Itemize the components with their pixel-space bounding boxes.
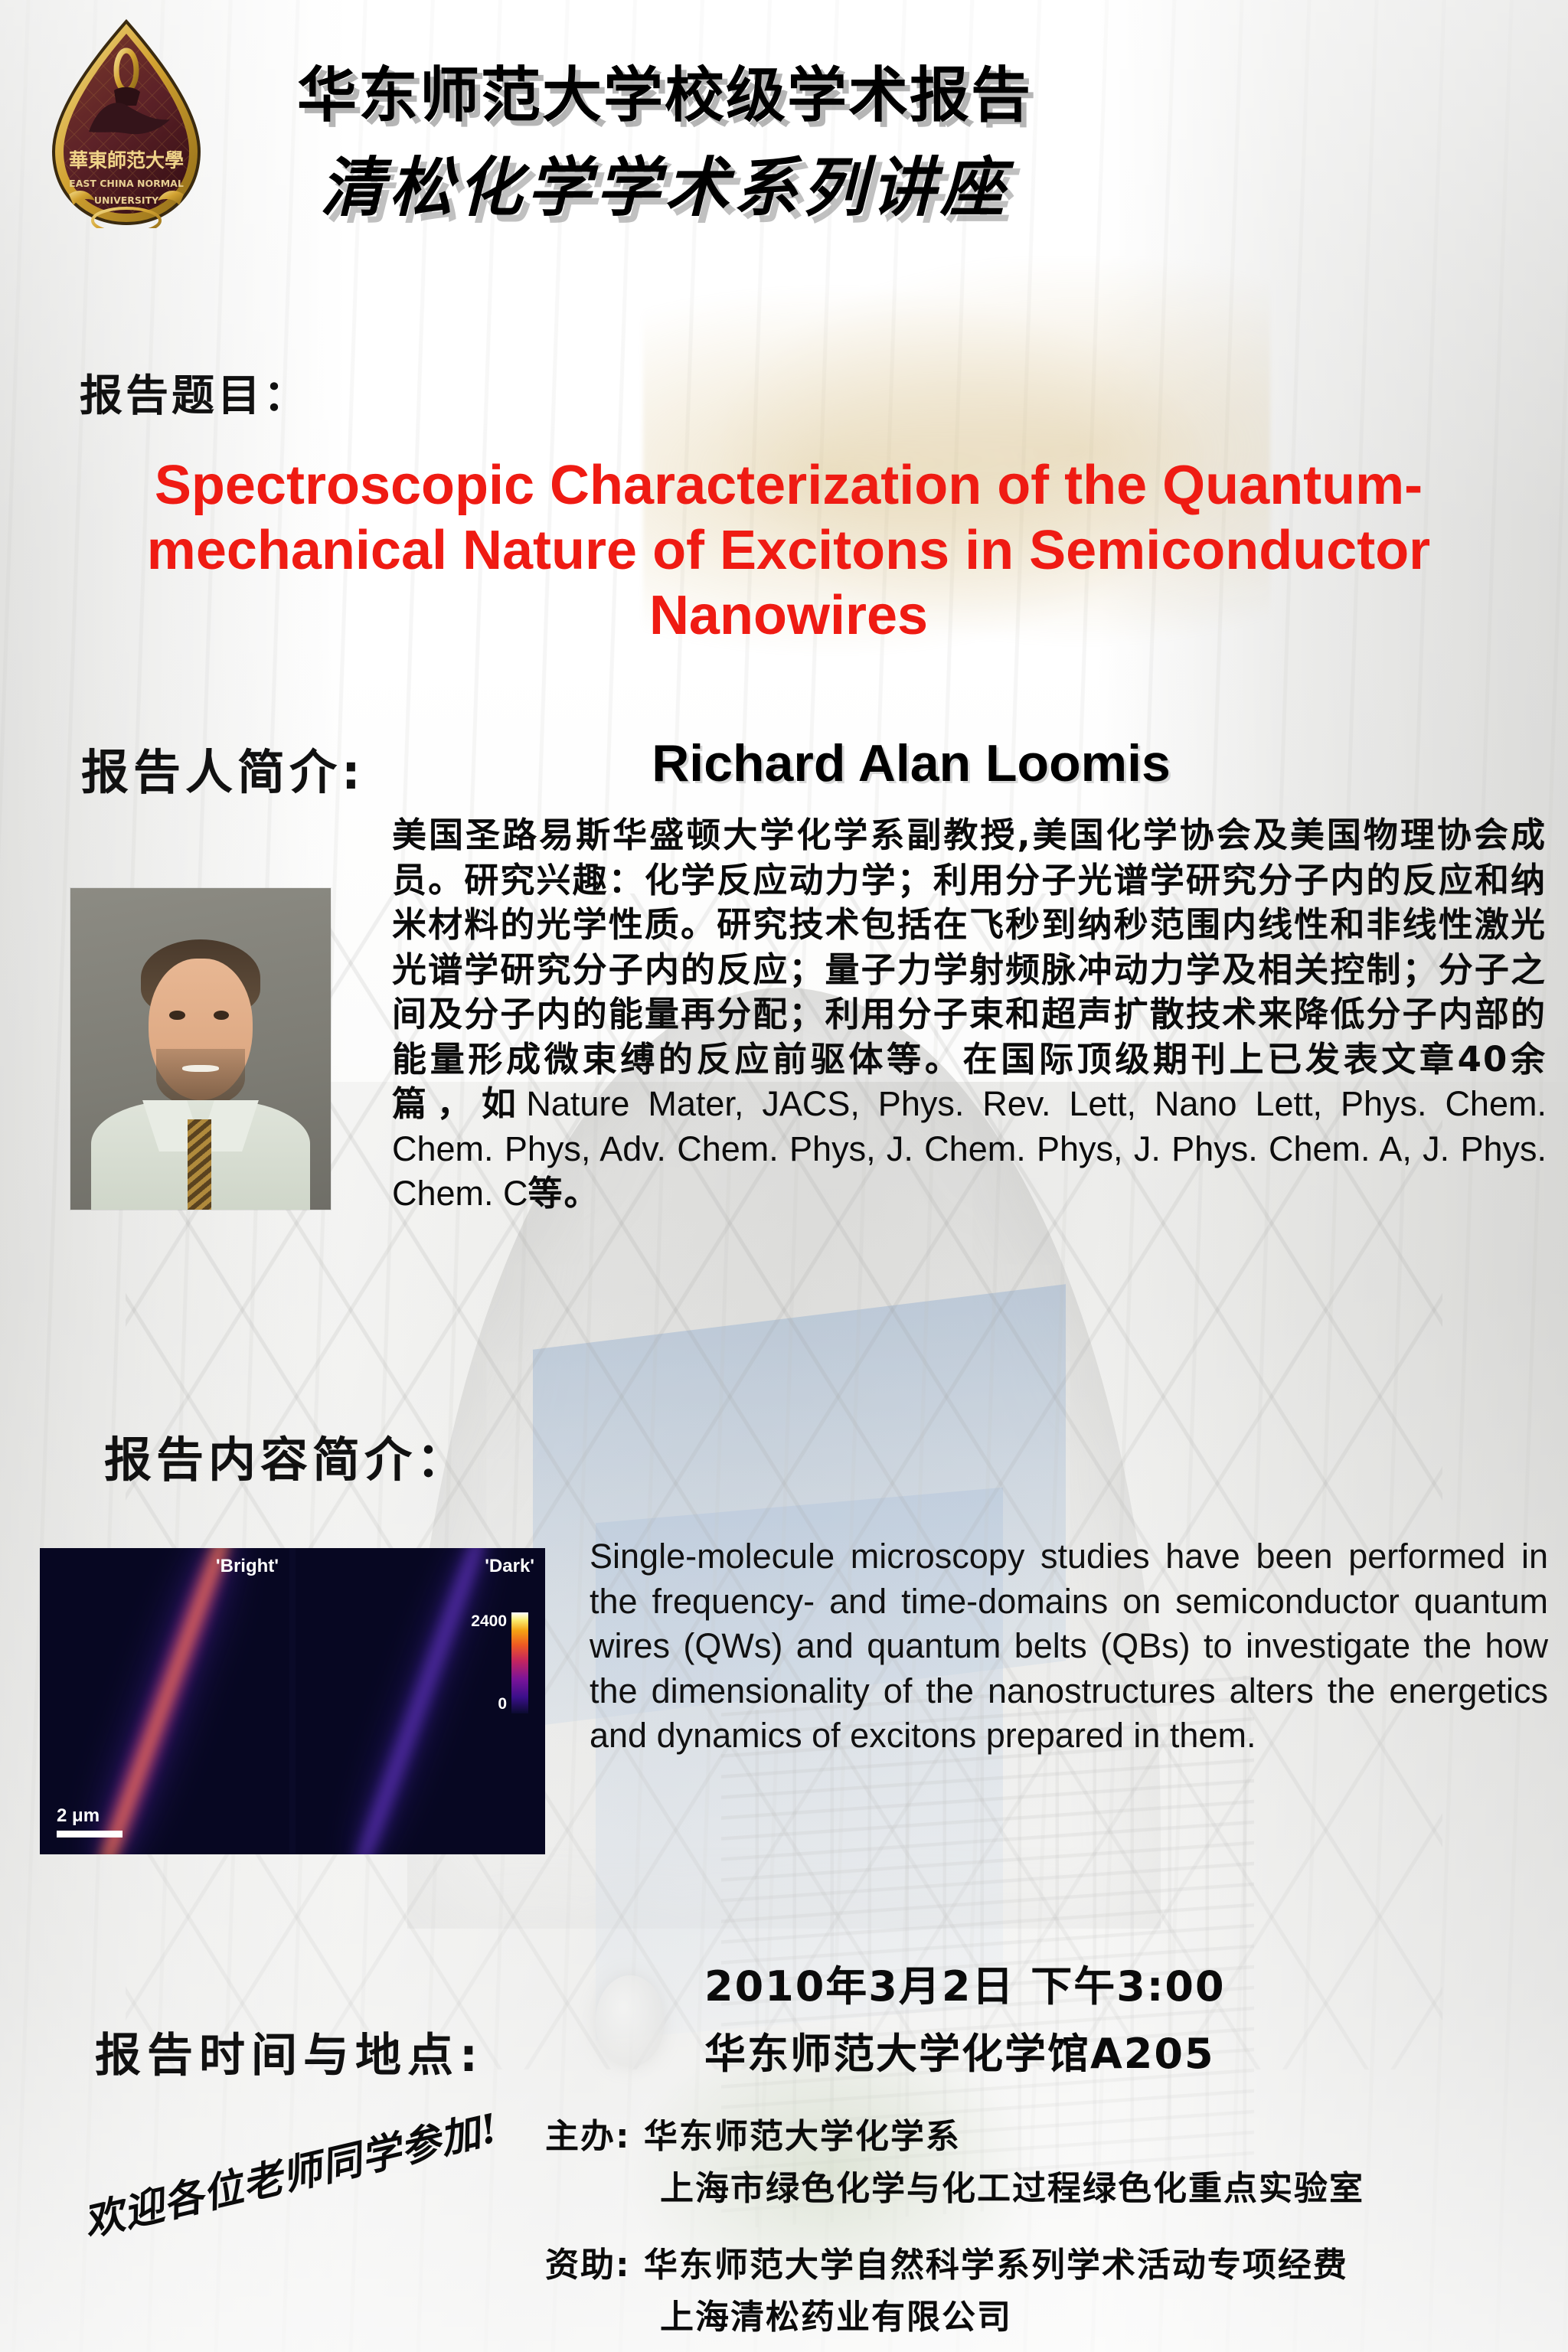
figure-label-dark: 'Dark'	[485, 1556, 534, 1577]
footer-funding-line-2: 上海清松药业有限公司	[660, 2289, 1012, 2338]
portrait-mouth	[182, 1065, 219, 1072]
welcome-note: 欢迎各位老师同学参加!	[77, 2096, 504, 2247]
speaker-label: 报告人简介:	[81, 733, 365, 802]
portrait-tie	[188, 1119, 211, 1210]
university-logo: 華東師范大學 EAST CHINA NORMAL UNIVERSITY	[35, 17, 217, 228]
footer-host-line-1: 主办: 华东师范大学化学系	[545, 2109, 961, 2158]
topic-label: 报告题目：	[80, 361, 309, 423]
figure-scalebar-line	[57, 1831, 122, 1837]
speaker-portrait	[70, 888, 331, 1210]
schedule-label: 报告时间与地点:	[95, 2018, 484, 2085]
colorbar-max-label: 2400	[471, 1612, 507, 1631]
talk-abstract: Single-molecule microscopy studies have …	[590, 1534, 1548, 1759]
colorbar-min-label: 0	[471, 1695, 507, 1713]
figure-panel-dark: 'Dark' 2400 0	[296, 1548, 545, 1854]
svg-text:EAST CHINA NORMAL: EAST CHINA NORMAL	[69, 178, 184, 189]
svg-text:華東師范大學: 華東師范大學	[69, 149, 184, 171]
speaker-bio-chinese: 美国圣路易斯华盛顿大学化学系副教授,美国化学协会及美国物理协会成员。研究兴趣：化…	[392, 815, 1547, 1124]
content-label: 报告内容简介：	[104, 1421, 469, 1490]
figure-colorbar: 2400 0	[471, 1612, 528, 1713]
ecnu-crest-icon: 華東師范大學 EAST CHINA NORMAL UNIVERSITY	[35, 17, 217, 228]
portrait-beard	[156, 1049, 245, 1107]
figure-label-bright: 'Bright'	[216, 1556, 279, 1577]
microscopy-figure: 'Bright' 2 μm 'Dark' 2400 0	[40, 1548, 545, 1854]
figure-scalebar-label: 2 μm	[57, 1805, 122, 1827]
speaker-name: Richard Alan Loomis	[490, 733, 1332, 793]
poster-university-heading: 华东师范大学校级学术报告	[297, 47, 1032, 133]
footer-funding-line-1: 资助: 华东师范大学自然科学系列学术活动专项经费	[545, 2237, 1348, 2286]
footer-host-line-2: 上海市绿色化学与化工过程绿色化重点实验室	[660, 2161, 1364, 2210]
talk-title: Spectroscopic Characterization of the Qu…	[115, 453, 1462, 648]
portrait-eye-left	[169, 1011, 185, 1021]
schedule-venue: 华东师范大学化学馆A205	[704, 2020, 1439, 2080]
poster-series-heading: 清松化学学术系列讲座	[320, 136, 1009, 229]
figure-scalebar: 2 μm	[57, 1805, 122, 1837]
svg-text:UNIVERSITY: UNIVERSITY	[94, 194, 159, 206]
speaker-bio: 美国圣路易斯华盛顿大学化学系副教授,美国化学协会及美国物理协会成员。研究兴趣：化…	[392, 813, 1547, 1217]
colorbar-gradient	[511, 1612, 528, 1713]
seminar-poster: 華東師范大學 EAST CHINA NORMAL UNIVERSITY 华东师范…	[0, 0, 1568, 2352]
figure-panel-bright: 'Bright' 2 μm	[40, 1548, 289, 1854]
speaker-bio-tail: 等。	[528, 1173, 600, 1214]
schedule-datetime: 2010年3月2日 下午3:00	[704, 1952, 1393, 2013]
